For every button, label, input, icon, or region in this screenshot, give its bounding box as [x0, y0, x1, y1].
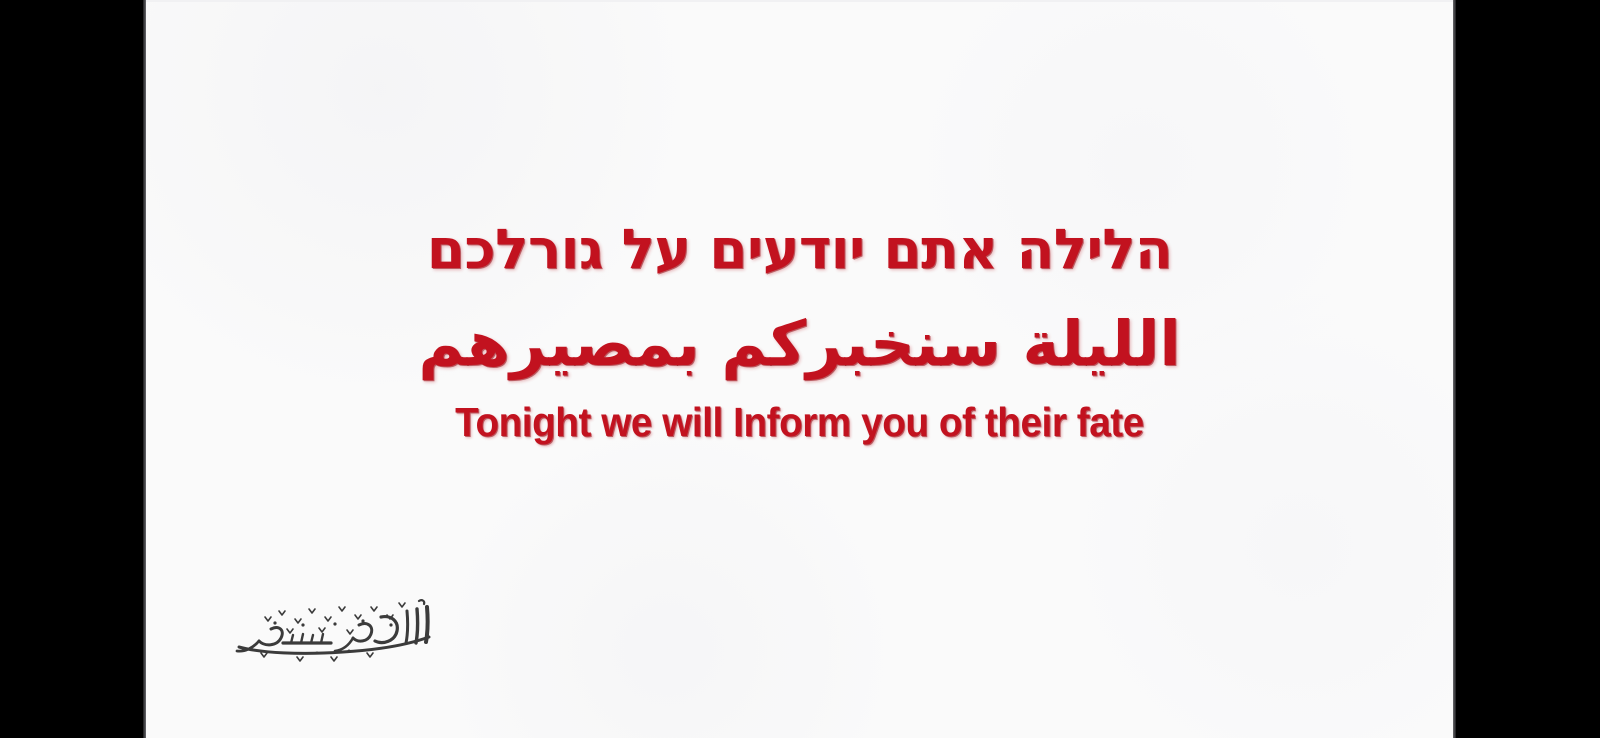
video-picture-area: הלילה אתם יודעים על גורלכם الليلة سنخبرك… — [143, 0, 1456, 738]
caption-block: הלילה אתם יודעים על גורלכם الليلة سنخبرك… — [143, 222, 1456, 443]
caption-line-arabic: الليلة سنخبركم بمصيرهم — [143, 311, 1456, 376]
caption-line-hebrew: הלילה אתם יודעים על גורלכם — [143, 222, 1456, 277]
calligraphy-glyphs — [231, 595, 451, 667]
letterbox-bar-left — [0, 0, 143, 738]
caption-line-english: Tonight we will Inform you of their fate — [182, 402, 1416, 443]
video-frame: הלילה אתם יודעים על גורלכם الليلة سنخبرك… — [0, 0, 1600, 738]
frame-top-hairline — [143, 0, 1456, 2]
letterbox-bar-right — [1456, 0, 1600, 738]
military-media-watermark-icon — [231, 595, 451, 667]
